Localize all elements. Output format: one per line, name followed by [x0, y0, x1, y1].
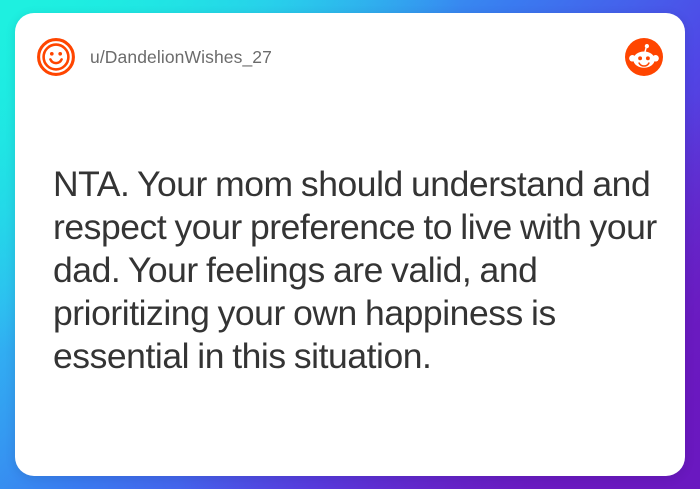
reddit-snoo-logo-icon: [625, 38, 663, 76]
post-body-text: NTA. Your mom should understand and resp…: [53, 163, 661, 378]
smiley-face-avatar-icon: [36, 37, 76, 77]
reddit-comment-card: u/DandelionWishes_27: [15, 13, 685, 476]
card-header: u/DandelionWishes_27: [15, 13, 685, 101]
screenshot-canvas: u/DandelionWishes_27: [0, 0, 700, 489]
username-label: u/DandelionWishes_27: [90, 47, 272, 68]
